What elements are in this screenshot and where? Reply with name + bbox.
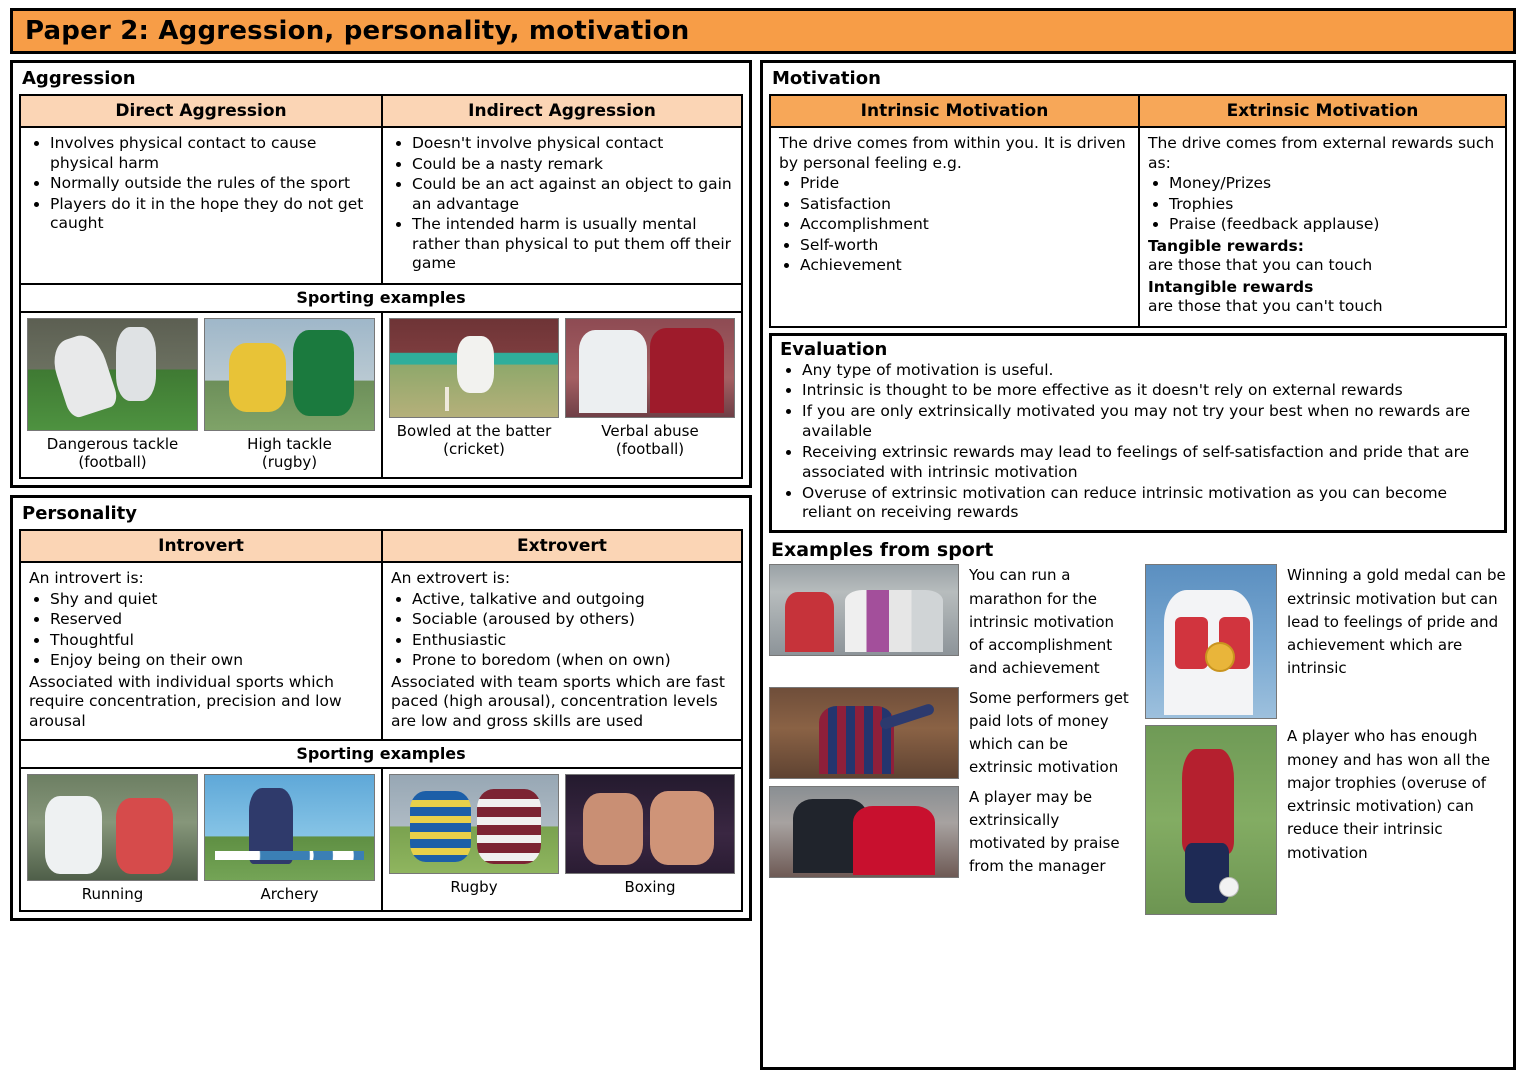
list-item: Enjoy being on their own	[50, 651, 373, 671]
aggression-sporting-examples: Sporting examples Dangerous tackle (foot…	[19, 285, 743, 480]
example-caption: Running	[82, 885, 143, 903]
cricket-bowled-at-batter-photo	[389, 318, 559, 418]
example-caption: Archery	[260, 885, 318, 903]
list-item: Doesn't involve physical contact	[412, 134, 733, 154]
example-item: Dangerous tackle (football)	[27, 318, 198, 472]
list-item: The intended harm is usually mental rath…	[412, 215, 733, 274]
caption-line: (cricket)	[397, 440, 552, 458]
table-header-row: Introvert Extrovert	[21, 531, 741, 563]
introvert-cell: An introvert is: Shy and quiet Reserved …	[21, 563, 381, 739]
list-item: Praise (feedback applause)	[1169, 215, 1497, 235]
example-row: A player may be extrinsically motivated …	[769, 786, 1131, 879]
list-item: Sociable (aroused by others)	[412, 610, 733, 630]
example-row: Winning a gold medal can be extrinsic mo…	[1145, 564, 1507, 719]
intrinsic-motivation-header: Intrinsic Motivation	[771, 96, 1138, 128]
footballer-celebrating-photo	[769, 687, 959, 779]
motivation-panel: Motivation Intrinsic Motivation Extrinsi…	[760, 60, 1516, 1070]
examples-left-column: You can run a marathon for the intrinsic…	[769, 564, 1131, 915]
soccer-player-with-ball-photo	[1145, 725, 1277, 915]
list-item: Receiving extrinsic rewards may lead to …	[802, 443, 1496, 483]
list-item: Intrinsic is thought to be more effectiv…	[802, 381, 1496, 401]
marathon-runners-photo	[769, 564, 959, 656]
list-item: Pride	[800, 174, 1130, 194]
caption-line: Bowled at the batter	[397, 422, 552, 440]
revision-poster: Paper 2: Aggression, personality, motiva…	[0, 0, 1526, 1080]
extrinsic-list: Money/Prizes Trophies Praise (feedback a…	[1148, 174, 1497, 235]
sporting-examples-title: Sporting examples	[21, 285, 741, 313]
left-column: Aggression Direct Aggression Indirect Ag…	[10, 60, 752, 1070]
manager-hugging-player-photo	[769, 786, 959, 878]
introvert-note: Associated with individual sports which …	[29, 673, 373, 732]
caption-line: Dangerous tackle	[47, 435, 179, 453]
table-body-row: The drive comes from within you. It is d…	[771, 128, 1505, 326]
example-caption: Boxing	[624, 878, 675, 896]
list-item: Any type of motivation is useful.	[802, 361, 1496, 381]
direct-aggression-list: Involves physical contact to cause physi…	[29, 134, 373, 234]
list-item: Active, talkative and outgoing	[412, 590, 733, 610]
extrovert-lead: An extrovert is:	[391, 569, 733, 589]
list-item: If you are only extrinsically motivated …	[802, 402, 1496, 442]
list-item: Normally outside the rules of the sport	[50, 174, 373, 194]
caption-line: (football)	[47, 453, 179, 471]
motivation-table: Intrinsic Motivation Extrinsic Motivatio…	[769, 94, 1507, 328]
example-item: Archery	[204, 774, 375, 903]
extrovert-note: Associated with team sports which are fa…	[391, 673, 733, 732]
example-row: A player who has enough money and has wo…	[1145, 725, 1507, 915]
example-item: Boxing	[565, 774, 735, 903]
archery-photo	[204, 774, 375, 881]
table-body-row: Involves physical contact to cause physi…	[21, 128, 741, 283]
extrinsic-lead: The drive comes from external rewards su…	[1148, 134, 1497, 173]
indirect-aggression-header: Indirect Aggression	[381, 96, 741, 128]
examples-from-sport: You can run a marathon for the intrinsic…	[769, 564, 1507, 915]
personality-panel: Personality Introvert Extrovert An intro…	[10, 495, 752, 920]
introvert-header: Introvert	[21, 531, 381, 563]
example-text: You can run a marathon for the intrinsic…	[969, 564, 1131, 680]
extrovert-list: Active, talkative and outgoing Sociable …	[391, 590, 733, 671]
example-text: Winning a gold medal can be extrinsic mo…	[1287, 564, 1507, 680]
extrinsic-motivation-cell: The drive comes from external rewards su…	[1138, 128, 1505, 326]
list-item: Could be an act against an object to gai…	[412, 175, 733, 214]
aggression-heading: Aggression	[22, 68, 743, 89]
rugby-tackle-photo	[389, 774, 559, 874]
personality-heading: Personality	[22, 503, 743, 524]
table-header-row: Direct Aggression Indirect Aggression	[21, 96, 741, 128]
intrinsic-list: Pride Satisfaction Accomplishment Self-w…	[779, 174, 1130, 276]
extrovert-cell: An extrovert is: Active, talkative and o…	[381, 563, 741, 739]
caption-line: (football)	[601, 440, 698, 458]
indirect-aggression-cell: Doesn't involve physical contact Could b…	[381, 128, 741, 283]
running-athletes-photo	[27, 774, 198, 881]
example-caption: Dangerous tackle (football)	[47, 435, 179, 472]
example-caption: Verbal abuse (football)	[601, 422, 698, 459]
extrinsic-motivation-header: Extrinsic Motivation	[1138, 96, 1505, 128]
example-row: Some performers get paid lots of money w…	[769, 687, 1131, 780]
list-item: Thoughtful	[50, 631, 373, 651]
list-item: Satisfaction	[800, 195, 1130, 215]
page-title-banner: Paper 2: Aggression, personality, motiva…	[10, 8, 1516, 54]
list-item: Accomplishment	[800, 215, 1130, 235]
evaluation-list: Any type of motivation is useful. Intrin…	[778, 361, 1496, 524]
example-caption: Bowled at the batter (cricket)	[397, 422, 552, 459]
tangible-rewards-definition: are those that you can touch	[1148, 256, 1497, 276]
personality-sporting-examples: Sporting examples Running Archery	[19, 741, 743, 911]
list-item: Players do it in the hope they do not ge…	[50, 195, 373, 234]
introvert-list: Shy and quiet Reserved Thoughtful Enjoy …	[29, 590, 373, 671]
evaluation-heading: Evaluation	[780, 339, 1496, 360]
right-column: Motivation Intrinsic Motivation Extrinsi…	[760, 60, 1516, 1070]
caption-line: (rugby)	[247, 453, 332, 471]
example-item: Verbal abuse (football)	[565, 318, 735, 472]
list-item: Involves physical contact to cause physi…	[50, 134, 373, 173]
list-item: Overuse of extrinsic motivation can redu…	[802, 484, 1496, 524]
direct-aggression-cell: Involves physical contact to cause physi…	[21, 128, 381, 283]
sporting-examples-title: Sporting examples	[21, 741, 741, 769]
football-dangerous-tackle-photo	[27, 318, 198, 431]
rugby-high-tackle-photo	[204, 318, 375, 431]
example-item: Bowled at the batter (cricket)	[389, 318, 559, 472]
evaluation-panel: Evaluation Any type of motivation is use…	[769, 333, 1507, 534]
table-header-row: Intrinsic Motivation Extrinsic Motivatio…	[771, 96, 1505, 128]
direct-examples-group: Dangerous tackle (football) High tackle …	[21, 313, 381, 478]
aggression-table: Direct Aggression Indirect Aggression In…	[19, 94, 743, 285]
caption-line: Verbal abuse	[601, 422, 698, 440]
example-text: A player may be extrinsically motivated …	[969, 786, 1131, 879]
motivation-heading: Motivation	[772, 68, 1507, 89]
intangible-rewards-term: Intangible rewards	[1148, 278, 1497, 298]
intrinsic-motivation-cell: The drive comes from within you. It is d…	[771, 128, 1138, 326]
list-item: Self-worth	[800, 236, 1130, 256]
list-item: Enthusiastic	[412, 631, 733, 651]
aggression-panel: Aggression Direct Aggression Indirect Ag…	[10, 60, 752, 488]
list-item: Prone to boredom (when on own)	[412, 651, 733, 671]
table-body-row: An introvert is: Shy and quiet Reserved …	[21, 563, 741, 739]
examples-from-sport-heading: Examples from sport	[771, 539, 1507, 561]
indirect-examples-group: Bowled at the batter (cricket) Verbal ab…	[381, 313, 741, 478]
example-text: A player who has enough money and has wo…	[1287, 725, 1507, 865]
personality-table: Introvert Extrovert An introvert is: Shy…	[19, 529, 743, 741]
example-text: Some performers get paid lots of money w…	[969, 687, 1131, 780]
gold-medallist-photo	[1145, 564, 1277, 719]
example-caption: High tackle (rugby)	[247, 435, 332, 472]
extrovert-examples-group: Rugby Boxing	[381, 769, 741, 909]
indirect-aggression-list: Doesn't involve physical contact Could b…	[391, 134, 733, 274]
poster-body: Aggression Direct Aggression Indirect Ag…	[10, 60, 1516, 1070]
example-row: You can run a marathon for the intrinsic…	[769, 564, 1131, 680]
tangible-rewards-term: Tangible rewards:	[1148, 237, 1497, 257]
list-item: Money/Prizes	[1169, 174, 1497, 194]
caption-line: High tackle	[247, 435, 332, 453]
intrinsic-lead: The drive comes from within you. It is d…	[779, 134, 1130, 173]
list-item: Trophies	[1169, 195, 1497, 215]
introvert-examples-group: Running Archery	[21, 769, 381, 909]
page-title: Paper 2: Aggression, personality, motiva…	[25, 16, 689, 46]
list-item: Shy and quiet	[50, 590, 373, 610]
direct-aggression-header: Direct Aggression	[21, 96, 381, 128]
example-item: High tackle (rugby)	[204, 318, 375, 472]
example-item: Running	[27, 774, 198, 903]
football-verbal-abuse-photo	[565, 318, 735, 418]
extrovert-header: Extrovert	[381, 531, 741, 563]
list-item: Reserved	[50, 610, 373, 630]
examples-right-column: Winning a gold medal can be extrinsic mo…	[1145, 564, 1507, 915]
list-item: Could be a nasty remark	[412, 155, 733, 175]
example-caption: Rugby	[450, 878, 497, 896]
example-item: Rugby	[389, 774, 559, 903]
boxing-photo	[565, 774, 735, 874]
intangible-rewards-definition: are those that you can't touch	[1148, 297, 1497, 317]
list-item: Achievement	[800, 256, 1130, 276]
introvert-lead: An introvert is:	[29, 569, 373, 589]
